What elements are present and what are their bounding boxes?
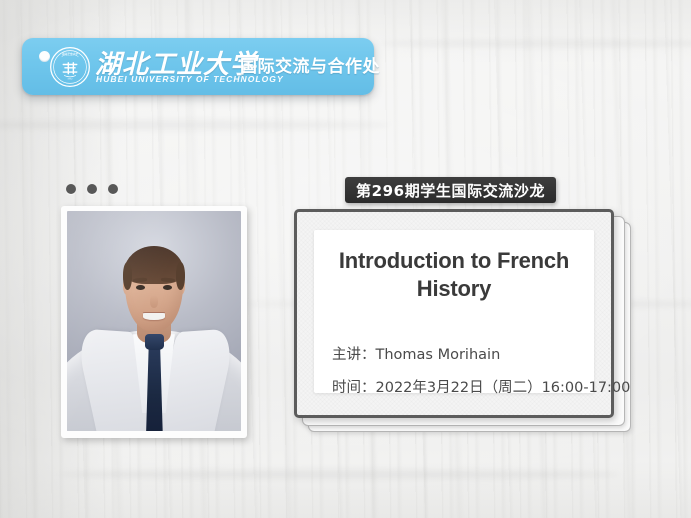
series-ribbon-label: 第296期学生国际交流沙龙 bbox=[356, 180, 545, 201]
talk-info-inner: Introduction to French History 主讲：Thomas… bbox=[314, 230, 594, 393]
dot-icon bbox=[108, 184, 118, 194]
dot-icon bbox=[87, 184, 97, 194]
svg-text:湖北工业大学: 湖北工业大学 bbox=[62, 52, 79, 56]
talk-title: Introduction to French History bbox=[322, 247, 586, 303]
talk-info-card: Introduction to French History 主讲：Thomas… bbox=[294, 209, 614, 418]
talk-time: 时间：2022年3月22日（周二）16:00-17:00 bbox=[332, 376, 630, 397]
talk-speaker: 主讲：Thomas Morihain bbox=[332, 343, 500, 364]
svg-text:1952: 1952 bbox=[67, 79, 73, 81]
series-ribbon: 第296期学生国际交流沙龙 bbox=[345, 177, 556, 203]
university-seal-icon: 湖北工业大学 1952 bbox=[49, 46, 91, 88]
speaker-photo-frame bbox=[61, 206, 247, 438]
poster-canvas: 湖北工业大学 1952 湖北工业大学 HUBEI UNIVERSITY OF T… bbox=[0, 0, 691, 518]
three-dots-icon bbox=[66, 184, 118, 194]
dot-icon bbox=[66, 184, 76, 194]
header-department: 国际交流与合作处 bbox=[240, 52, 380, 77]
speaker-portrait bbox=[67, 211, 241, 431]
